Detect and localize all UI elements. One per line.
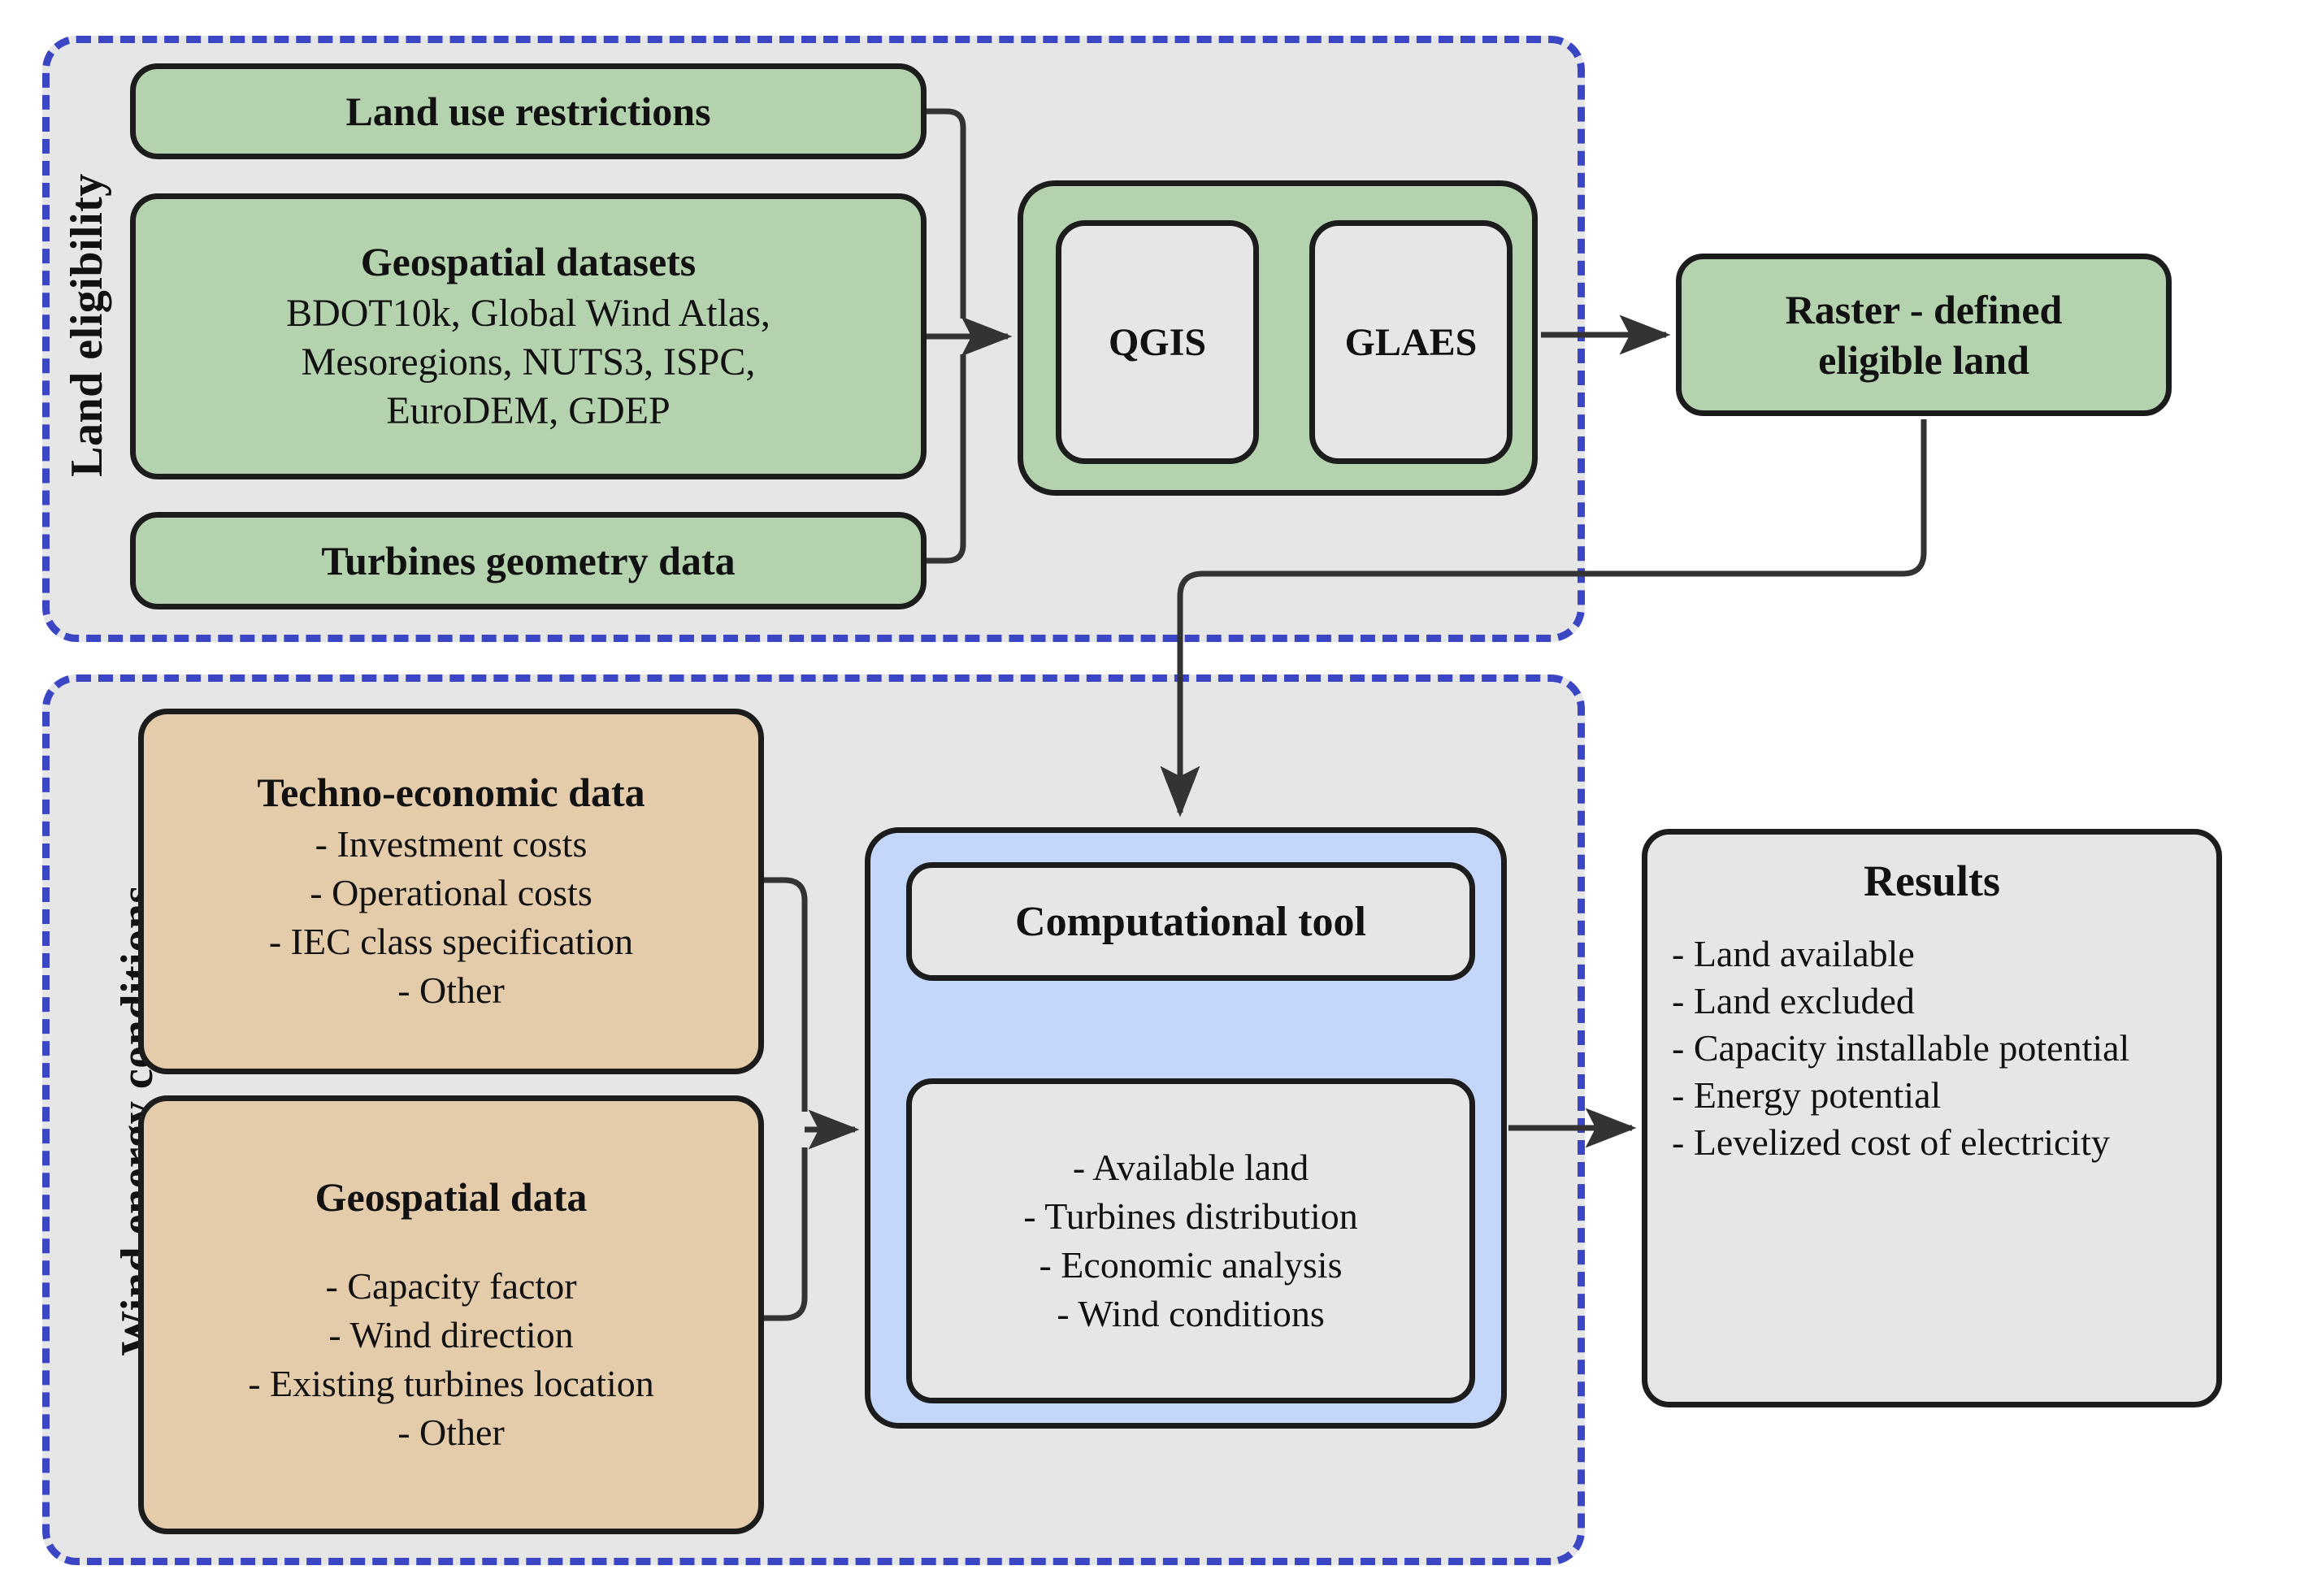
geospatial-data-item: - Existing turbines location — [248, 1360, 654, 1408]
node-land-use-restrictions-title: Land use restrictions — [345, 89, 710, 134]
geospatial-data-item: - Capacity factor — [248, 1262, 654, 1311]
node-results-title: Results — [1672, 856, 2192, 906]
node-raster-line: eligible land — [1818, 335, 2029, 385]
results-item: - Capacity installable potential — [1672, 1025, 2192, 1072]
node-techno-economic-data[interactable]: Techno-economic data - Investment costs … — [138, 709, 764, 1074]
node-geospatial-datasets-title: Geospatial datasets — [361, 237, 697, 286]
node-geospatial-data-title: Geospatial data — [315, 1173, 588, 1221]
techno-economic-item: - Operational costs — [269, 869, 633, 917]
node-land-use-restrictions[interactable]: Land use restrictions — [130, 63, 927, 159]
node-computational-tool-title-box[interactable]: Computational tool — [906, 862, 1475, 981]
techno-economic-item: - Investment costs — [269, 820, 633, 869]
node-computational-tool-container: Computational tool - Available land - Tu… — [865, 827, 1507, 1429]
results-item: - Energy potential — [1672, 1072, 2192, 1119]
computational-tool-item: - Available land — [1073, 1143, 1309, 1192]
node-computational-tool-output-list[interactable]: - Available land - Turbines distribution… — [906, 1078, 1475, 1403]
node-glaes-label: GLAES — [1345, 320, 1478, 365]
dataset-line: Mesoregions, NUTS3, ISPC, — [286, 338, 770, 387]
group-label-land-eligibility: Land eligibility — [63, 130, 111, 520]
node-techno-economic-data-title: Techno-economic data — [257, 768, 645, 817]
node-raster-defined-eligible-land[interactable]: Raster - defined eligible land — [1676, 254, 2172, 416]
diagram-canvas: Land eligibility Wind energy conditions — [0, 0, 2309, 1596]
node-turbines-geometry-data[interactable]: Turbines geometry data — [130, 512, 927, 609]
node-geospatial-data-lines: - Capacity factor - Wind direction - Exi… — [248, 1262, 654, 1457]
computational-tool-item: - Economic analysis — [1039, 1241, 1342, 1290]
node-turbines-geometry-data-title: Turbines geometry data — [321, 538, 735, 583]
node-qgis-label: QGIS — [1109, 320, 1206, 365]
computational-tool-item: - Wind conditions — [1057, 1290, 1325, 1338]
geospatial-data-item: - Wind direction — [248, 1311, 654, 1360]
computational-tool-item: - Turbines distribution — [1023, 1192, 1358, 1241]
node-glaes[interactable]: GLAES — [1309, 220, 1513, 464]
node-computational-tool-title: Computational tool — [1015, 898, 1366, 946]
results-item: - Land excluded — [1672, 978, 2192, 1025]
node-geospatial-datasets[interactable]: Geospatial datasets BDOT10k, Global Wind… — [130, 193, 927, 479]
dataset-line: EuroDEM, GDEP — [286, 387, 770, 436]
node-geospatial-datasets-lines: BDOT10k, Global Wind Atlas, Mesoregions,… — [286, 289, 770, 436]
results-item: - Levelized cost of electricity — [1672, 1119, 2192, 1166]
node-geospatial-data[interactable]: Geospatial data - Capacity factor - Wind… — [138, 1095, 764, 1534]
techno-economic-item: - IEC class specification — [269, 917, 633, 966]
dataset-line: BDOT10k, Global Wind Atlas, — [286, 289, 770, 338]
node-raster-line: Raster - defined — [1786, 284, 2063, 335]
techno-economic-item: - Other — [269, 966, 633, 1015]
results-item: - Land available — [1672, 930, 2192, 978]
node-techno-economic-data-lines: - Investment costs - Operational costs -… — [269, 820, 633, 1015]
node-qgis[interactable]: QGIS — [1056, 220, 1259, 464]
node-results[interactable]: Results - Land available - Land excluded… — [1642, 829, 2222, 1407]
geospatial-data-item: - Other — [248, 1408, 654, 1457]
node-software-container: QGIS GLAES — [1018, 180, 1538, 496]
node-results-lines: - Land available - Land excluded - Capac… — [1672, 930, 2192, 1166]
